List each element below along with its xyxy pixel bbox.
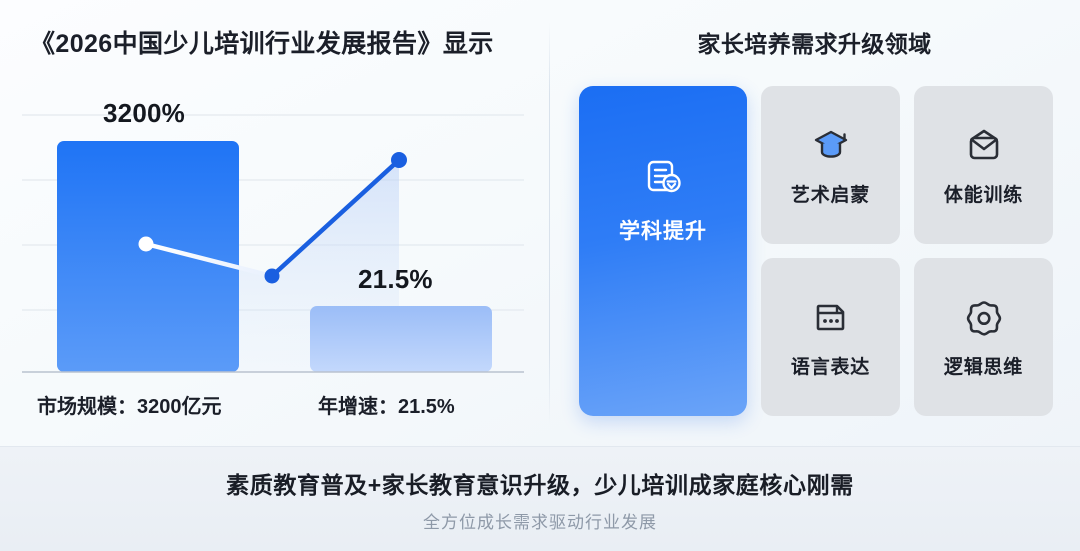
chart-svg [0, 0, 549, 446]
card-language-expression[interactable]: 语言表达 [761, 258, 900, 416]
graduation-cap-icon [809, 123, 853, 167]
right-panel-title: 家长培养需求升级领域 [549, 25, 1080, 59]
document-lines-e-icon [641, 155, 685, 199]
domain-card-grid: 艺术启蒙 体能训练 [761, 86, 1053, 416]
summary-banner: 素质教育普及+家长教育意识升级，少儿培训成家庭核心刚需 全方位成长需求驱动行业发… [0, 446, 1080, 551]
banner-subtext: 全方位成长需求驱动行业发展 [423, 508, 657, 533]
banner-headline: 素质教育普及+家长教育意识升级，少儿培训成家庭核心刚需 [226, 466, 854, 500]
card-label: 艺术启蒙 [791, 180, 870, 207]
card-label: 语言表达 [791, 352, 870, 379]
infographic-root: 《2026中国少儿培训行业发展报告》显示 [0, 0, 1080, 550]
value-label-growth-rate: 21.5% [358, 264, 433, 295]
left-chart-panel: 《2026中国少儿培训行业发展报告》显示 [0, 0, 549, 446]
value-label-market-size: 3200% [103, 98, 185, 129]
domain-cards: 学科提升 艺术启蒙 [579, 86, 1053, 416]
gear-flower-icon [962, 295, 1006, 339]
bar-growth-rate [310, 306, 492, 372]
trend-point-1 [139, 237, 154, 252]
top-content-area: 《2026中国少儿培训行业发展报告》显示 [0, 0, 1080, 446]
trend-point-2 [265, 269, 280, 284]
right-cards-panel: 家长培养需求升级领域 [549, 0, 1080, 446]
card-logical-thinking[interactable]: 逻辑思维 [914, 258, 1053, 416]
card-physical-training[interactable]: 体能训练 [914, 86, 1053, 244]
card-subject-improvement[interactable]: 学科提升 [579, 86, 747, 416]
card-label: 学科提升 [619, 215, 707, 245]
bar-market-size [57, 141, 239, 372]
market-chart: 3200% 21.5% 市场规模：3200亿元 年增速：21.5% [0, 0, 549, 446]
open-envelope-icon [962, 123, 1006, 167]
card-label: 体能训练 [944, 180, 1023, 207]
card-label: 逻辑思维 [944, 352, 1023, 379]
axis-label-market-size: 市场规模：3200亿元 [37, 390, 222, 419]
card-art-enlightenment[interactable]: 艺术启蒙 [761, 86, 900, 244]
trend-point-3 [391, 152, 407, 168]
chat-dots-card-icon [809, 295, 853, 339]
axis-label-growth-rate: 年增速：21.5% [318, 390, 455, 419]
